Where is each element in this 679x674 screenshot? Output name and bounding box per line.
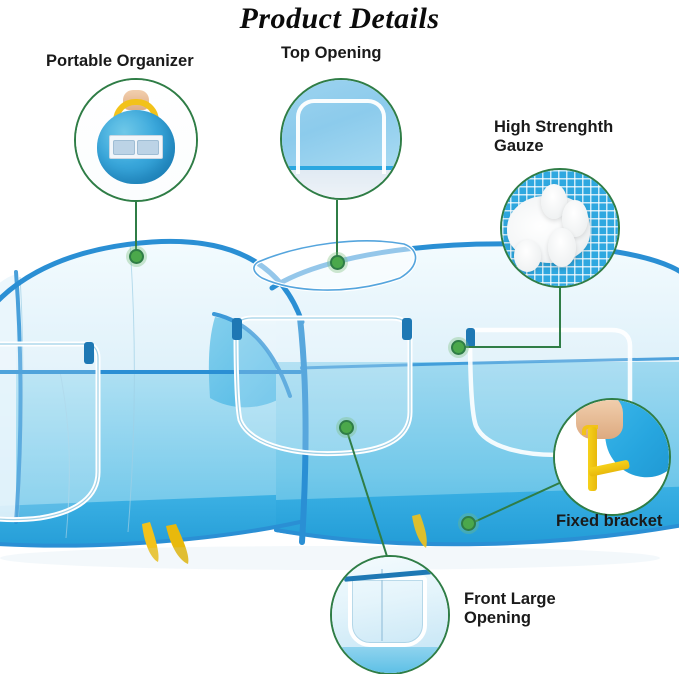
callout-circle-fixed-bracket xyxy=(553,398,671,516)
callout-circle-portable-organizer xyxy=(74,78,198,202)
callout-label-gauze: High Strenghth Gauze xyxy=(494,118,613,156)
stake-shaft xyxy=(588,427,597,491)
callout-label-top-opening: Top Opening xyxy=(281,44,382,63)
page-title: Product Details xyxy=(0,2,679,36)
callout-circle-top-opening xyxy=(280,78,402,200)
tent-floor xyxy=(330,647,450,673)
connector-line-gauze-vertical xyxy=(559,286,561,347)
callout-label-fixed-bracket: Fixed bracket xyxy=(556,512,662,531)
yellow-stake-icon xyxy=(555,400,669,514)
zipper-arch-icon xyxy=(296,99,386,175)
connector-dot-front-large-opening xyxy=(339,420,354,435)
cat-paw-on-mesh-icon xyxy=(502,170,618,286)
callout-circle-front-large-opening xyxy=(330,555,450,674)
carry-bag-icon xyxy=(76,80,196,200)
bag-front-pocket-icon xyxy=(109,135,163,159)
connector-line-top-opening xyxy=(336,200,338,262)
front-zipper-opening-icon xyxy=(332,557,448,673)
connector-dot-portable-organizer xyxy=(129,249,144,264)
connector-dot-gauze xyxy=(451,340,466,355)
top-mesh-opening-icon xyxy=(282,80,400,198)
connector-dot-top-opening xyxy=(330,255,345,270)
connector-line-gauze-horizontal xyxy=(462,346,561,348)
connector-dot-fixed-bracket xyxy=(461,516,476,531)
infographic-canvas: Product Details xyxy=(0,0,679,674)
callout-label-portable-organizer: Portable Organizer xyxy=(46,52,194,71)
callout-circle-gauze xyxy=(500,168,620,288)
callout-label-front-large-opening: Front Large Opening xyxy=(464,590,556,628)
zipper-frame-icon xyxy=(348,576,427,648)
connector-line-portable-organizer xyxy=(135,202,137,256)
